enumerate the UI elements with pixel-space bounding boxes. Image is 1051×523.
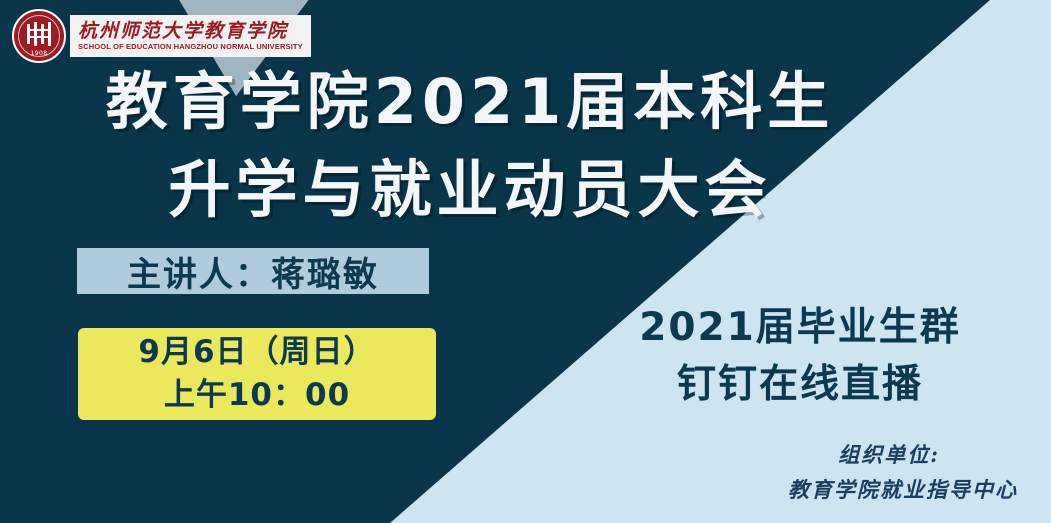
channel-platform-name: 钉钉在线直播 bbox=[600, 357, 1000, 414]
wordmark-english: SCHOOL OF EDUCATION HANGZHOU NORMAL UNIV… bbox=[78, 43, 303, 51]
title-line-2: 升学与就业动员大会 bbox=[0, 146, 940, 234]
speaker-banner: 主讲人：蒋璐敏 bbox=[77, 248, 429, 294]
speaker-name-label: 主讲人：蒋璐敏 bbox=[127, 247, 379, 296]
seal-founding-year: 1908 bbox=[14, 50, 64, 57]
university-logo-lockup: 1908 杭州师范大学教育学院 SCHOOL OF EDUCATION HANG… bbox=[12, 8, 311, 64]
event-poster: 1908 杭州师范大学教育学院 SCHOOL OF EDUCATION HANG… bbox=[0, 0, 1051, 523]
event-datetime-card: 9月6日（周日） 上午10：00 bbox=[78, 328, 436, 420]
event-time: 上午10：00 bbox=[164, 374, 350, 417]
wordmark-chinese: 杭州师范大学教育学院 bbox=[78, 22, 303, 42]
broadcast-channel-info: 2021届毕业生群 钉钉在线直播 bbox=[600, 300, 1000, 413]
university-wordmark: 杭州师范大学教育学院 SCHOOL OF EDUCATION HANGZHOU … bbox=[70, 15, 311, 57]
title-line-1: 教育学院2021届本科生 bbox=[0, 58, 940, 146]
channel-group-name: 2021届毕业生群 bbox=[600, 300, 1000, 357]
organizer-name: 教育学院就业指导中心 bbox=[640, 473, 1018, 508]
poster-title: 教育学院2021届本科生 升学与就业动员大会 bbox=[0, 58, 940, 234]
event-date: 9月6日（周日） bbox=[138, 331, 375, 374]
university-seal-icon: 1908 bbox=[12, 9, 66, 63]
organizer-label: 组织单位: bbox=[640, 438, 1018, 473]
seal-center-glyph bbox=[27, 22, 51, 46]
organizer-info: 组织单位: 教育学院就业指导中心 bbox=[640, 438, 1030, 507]
